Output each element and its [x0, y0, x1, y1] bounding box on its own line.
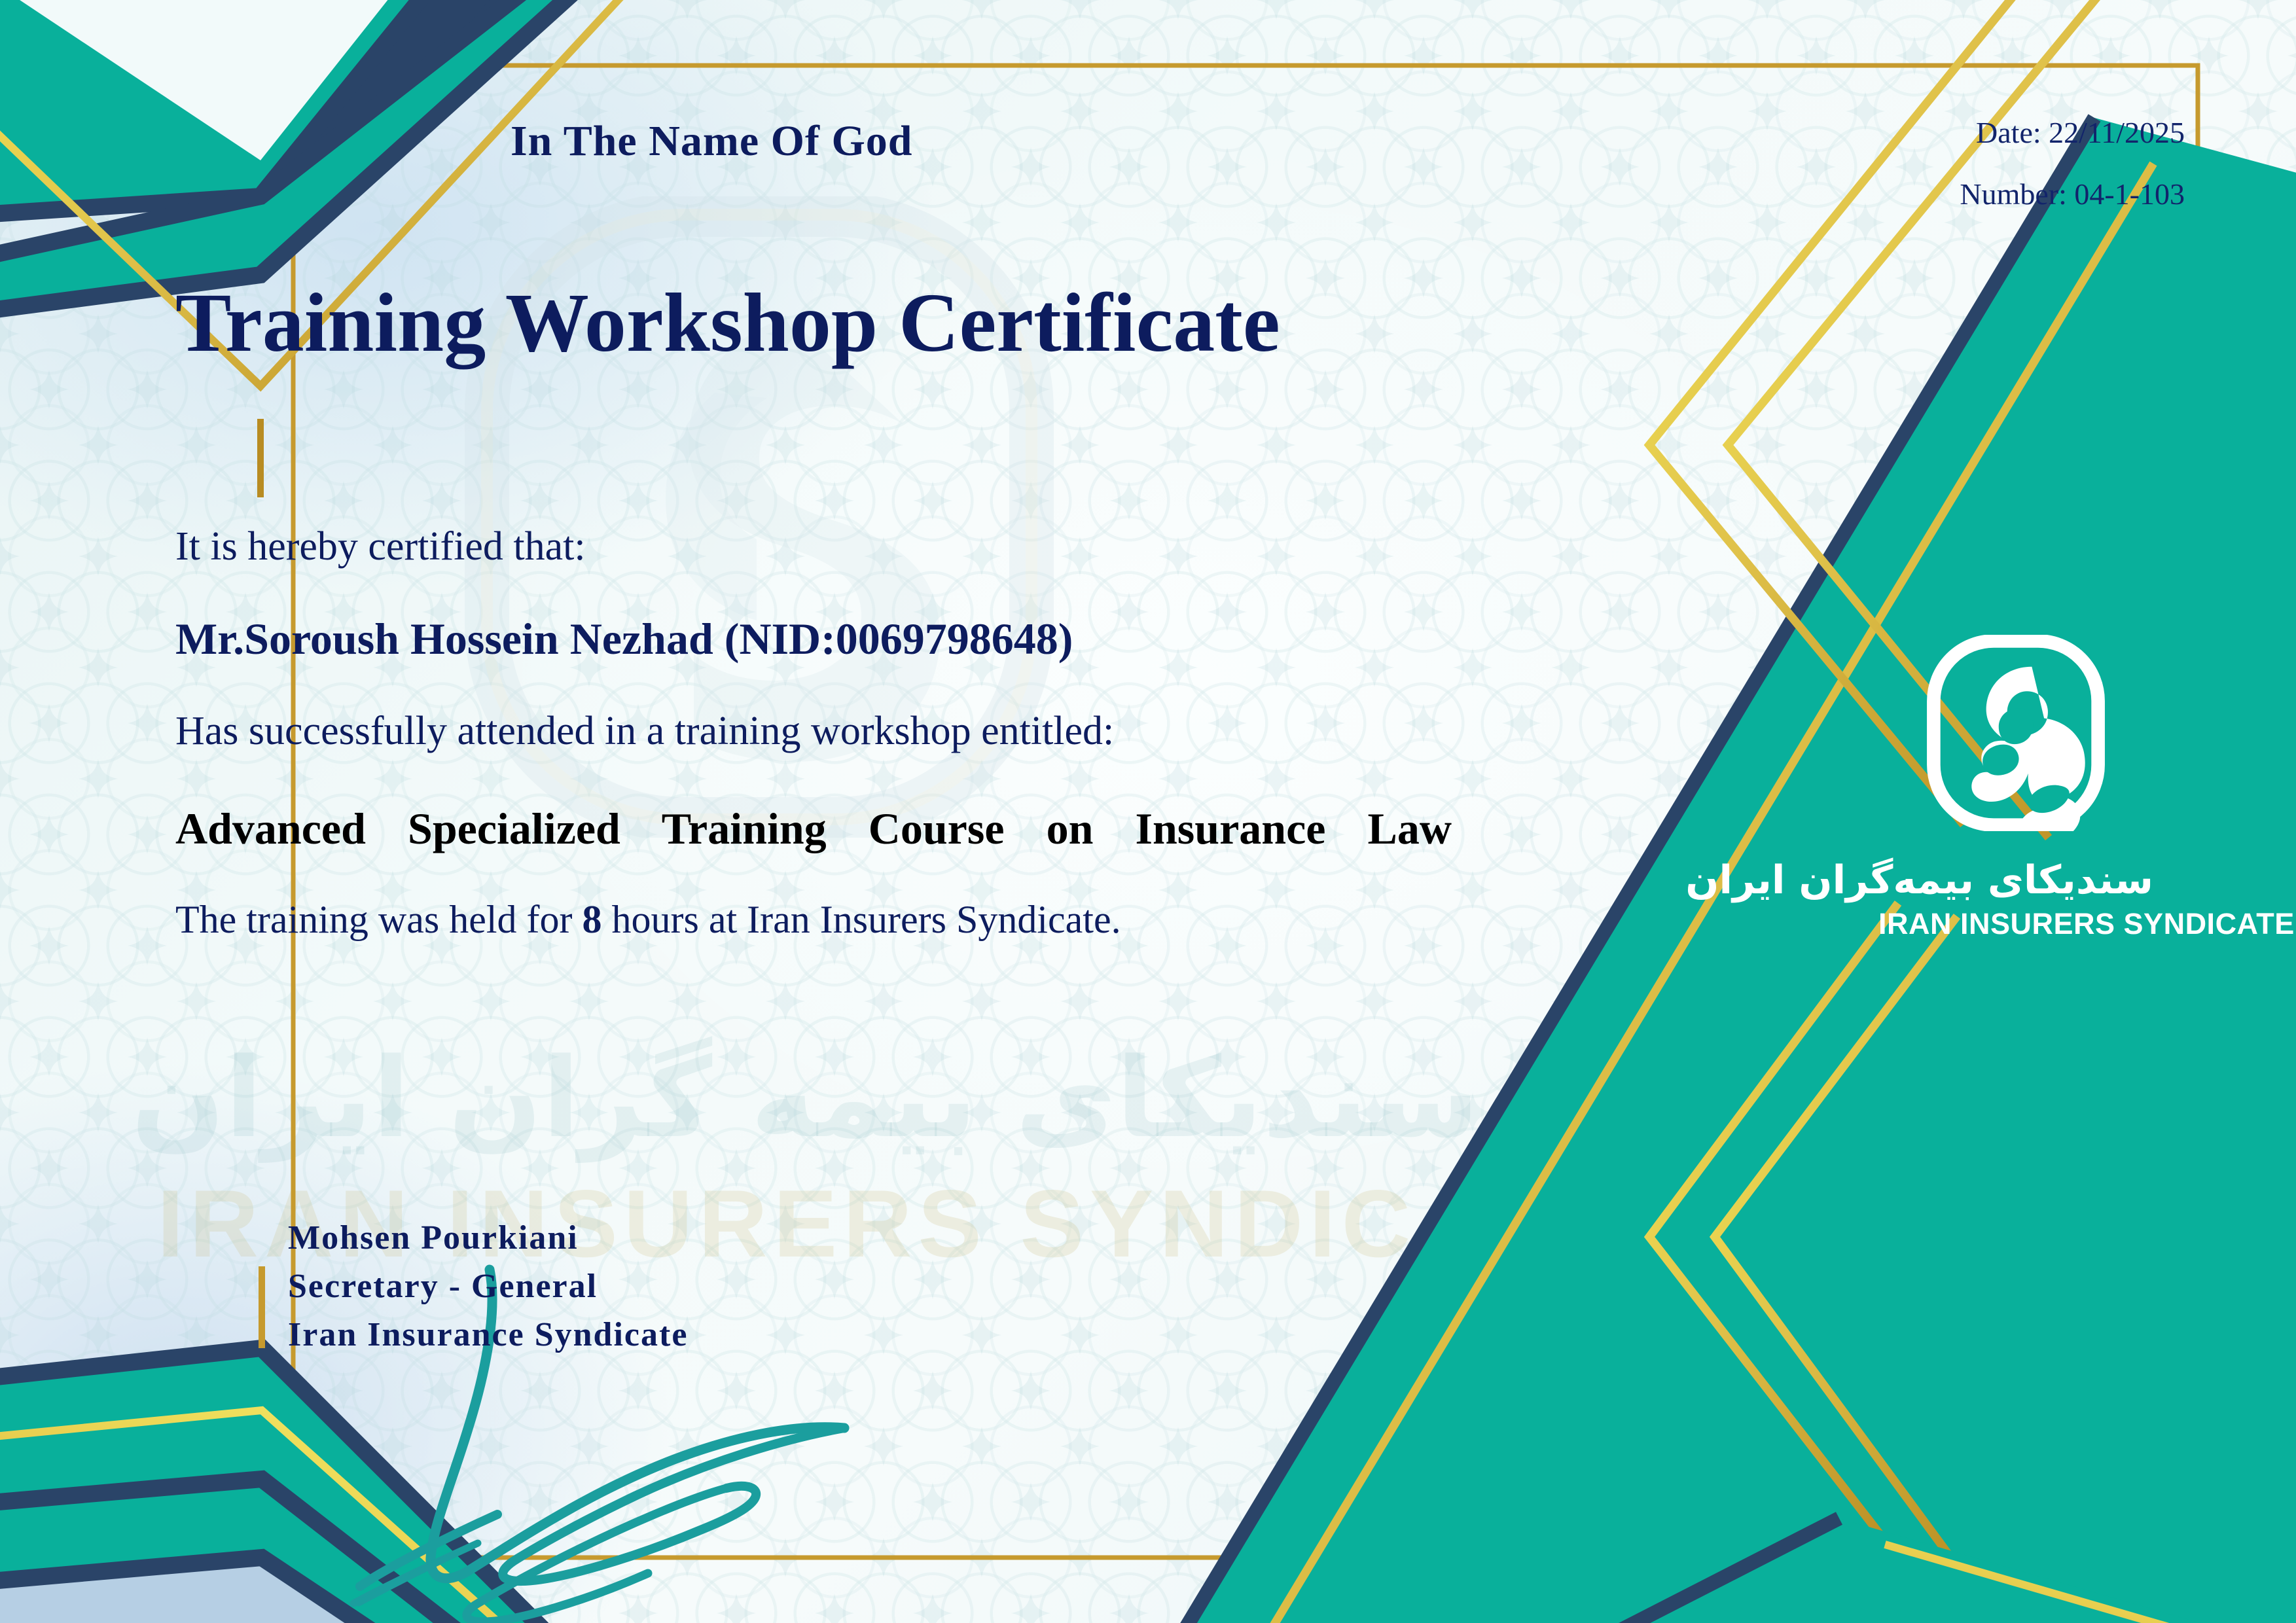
certificate-content: In The Name Of God Date: 22/11/2025 Numb… — [0, 0, 2296, 1623]
emblem-name-fa: سندیکای بیمه‌گران ایران — [1878, 859, 2153, 902]
bismillah-heading: In The Name Of God — [511, 116, 913, 166]
signatory-organization: Iran Insurance Syndicate — [288, 1311, 688, 1359]
signatory-block: Mohsen Pourkiani Secretary - General Ira… — [288, 1214, 688, 1359]
signatory-role: Secretary - General — [288, 1262, 688, 1311]
certificate-canvas: سندیکای بیمه گران ایران IRAN INSURERS SY… — [0, 0, 2296, 1623]
hours-value: 8 — [582, 898, 601, 941]
hours-prefix: The training was held for — [175, 898, 582, 941]
page-title: Training Workshop Certificate — [175, 275, 1280, 371]
certificate-meta: Date: 22/11/2025 Number: 04-1-103 — [1960, 118, 2185, 209]
signatory-name: Mohsen Pourkiani — [288, 1214, 688, 1262]
hours-line: The training was held for 8 hours at Ira… — [175, 897, 1478, 942]
attendance-line: Has successfully attended in a training … — [175, 708, 1478, 755]
organization-emblem: سندیکای بیمه‌گران ایران IRAN INSURERS SY… — [1878, 635, 2153, 941]
course-title-line: Advanced Specialized Training Course on … — [175, 795, 1452, 862]
emblem-name-en: IRAN INSURERS SYNDICATE — [1878, 907, 2153, 941]
issue-date: Date: 22/11/2025 — [1960, 118, 2185, 148]
certificate-number: Number: 04-1-103 — [1960, 179, 2185, 209]
intro-line: It is hereby certified that: — [175, 524, 1478, 570]
recipient-line: Mr.Soroush Hossein Nezhad (NID:006979864… — [175, 613, 1478, 665]
iran-insurers-syndicate-logo-icon — [1918, 635, 2114, 831]
hours-suffix: hours at Iran Insurers Syndicate. — [601, 898, 1121, 941]
certificate-body: It is hereby certified that: Mr.Soroush … — [175, 524, 1478, 942]
